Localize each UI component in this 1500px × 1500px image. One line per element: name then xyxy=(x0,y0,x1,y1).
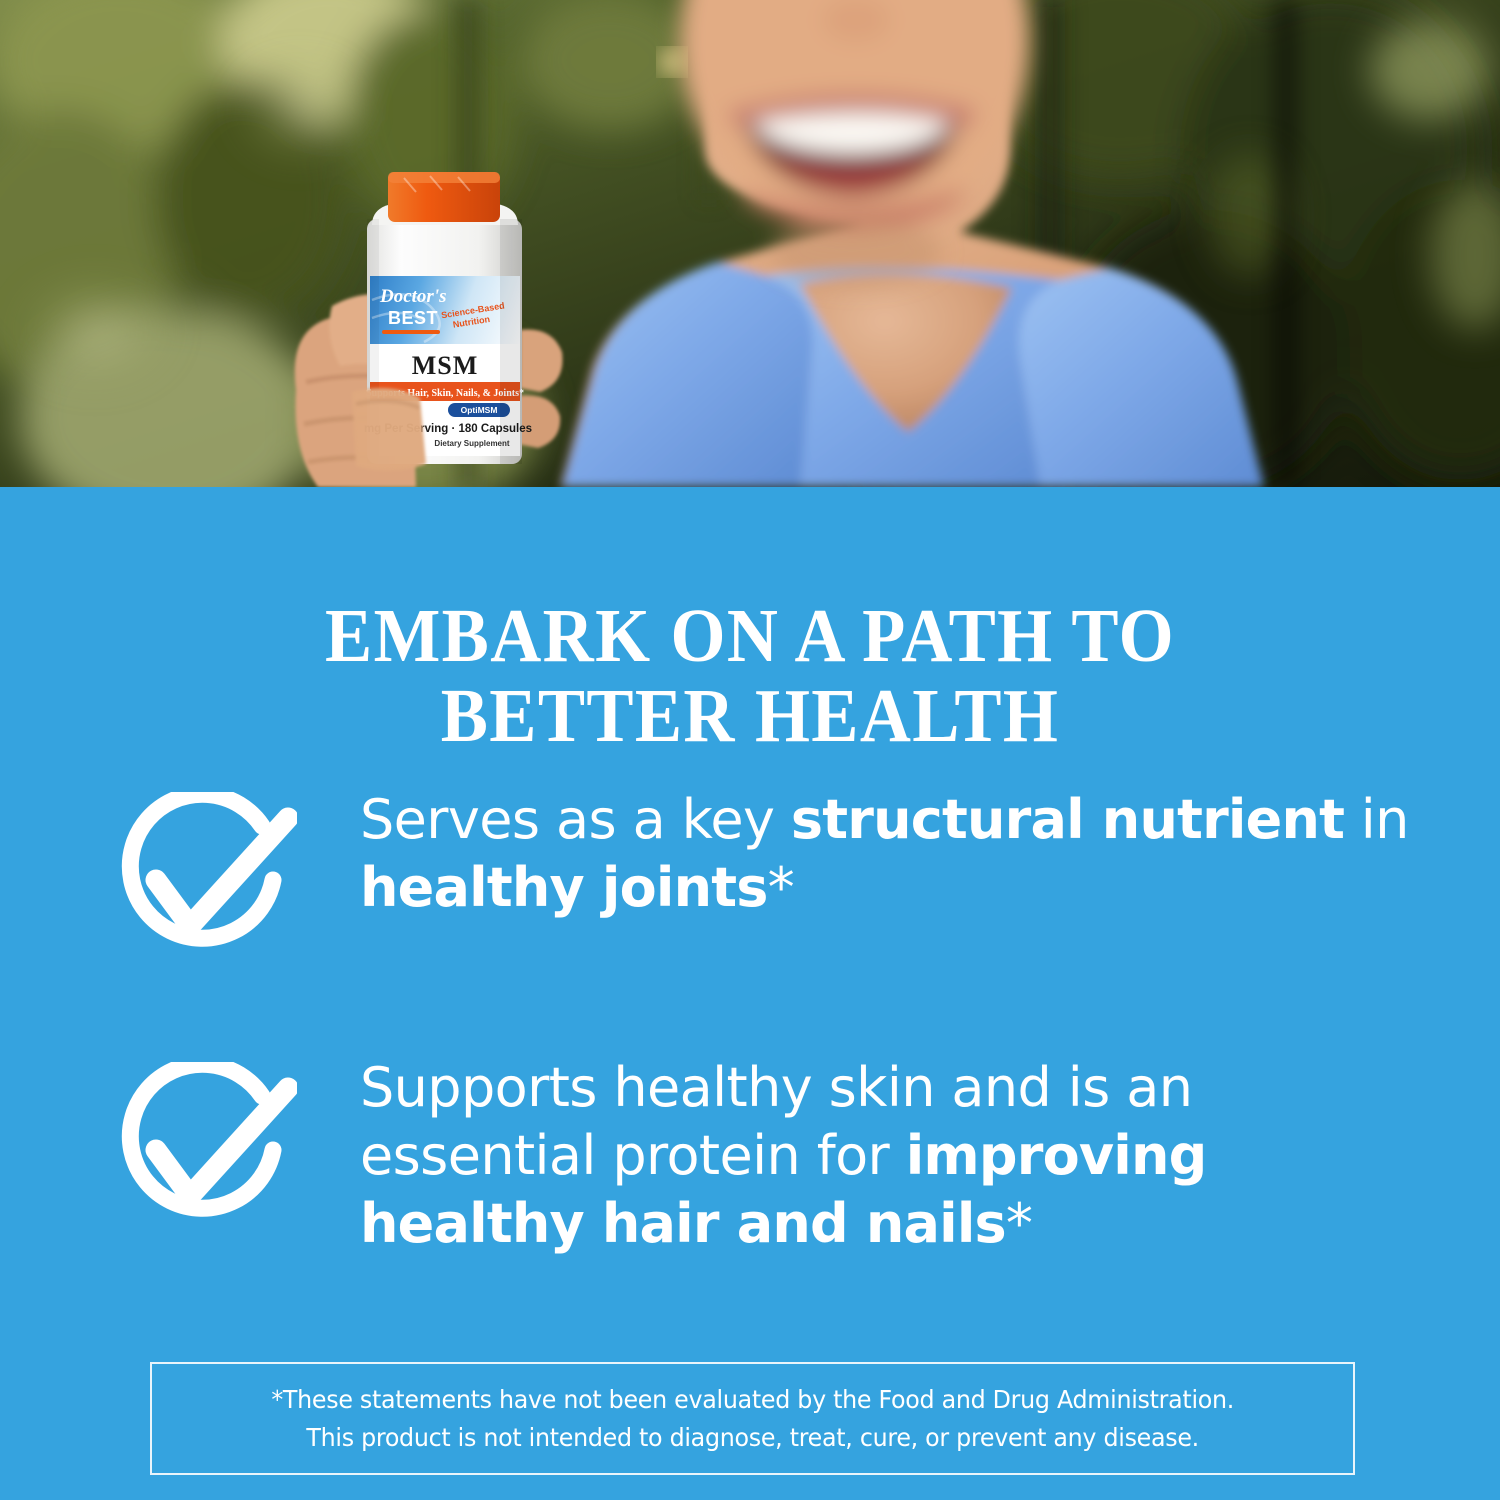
benefit-bullet-2-text: Supports healthy skin and is an essentia… xyxy=(297,1054,1442,1258)
svg-text:BEST: BEST xyxy=(388,308,438,328)
svg-text:Dietary Supplement: Dietary Supplement xyxy=(434,439,509,448)
check-circle-icon xyxy=(112,792,297,964)
headline-line-1: EMBARK ON A PATH TO xyxy=(53,596,1448,677)
product-infographic-page: Doctor's BEST Science-Based Nutrition MS… xyxy=(0,0,1500,1500)
bullet-2-asterisk: * xyxy=(1006,1192,1032,1255)
bullet-1-asterisk: * xyxy=(768,856,794,919)
benefit-bullet-1: Serves as a key structural nutrient in h… xyxy=(112,790,1442,964)
bullet-1-seg-1: structural nutrient xyxy=(791,788,1344,851)
svg-text:MSM: MSM xyxy=(412,351,479,380)
headline-line-2: BETTER HEALTH xyxy=(53,676,1448,757)
fda-disclaimer-text: *These statements have not been evaluate… xyxy=(271,1381,1234,1457)
disclaimer-line-2: This product is not intended to diagnose… xyxy=(271,1419,1234,1457)
hero-photo: Doctor's BEST Science-Based Nutrition MS… xyxy=(0,0,1500,487)
bullet-1-seg-2: in xyxy=(1344,788,1409,851)
bullet-1-seg-3: healthy joints xyxy=(360,856,768,919)
disclaimer-line-1: *These statements have not been evaluate… xyxy=(271,1381,1234,1419)
benefit-bullet-1-text: Serves as a key structural nutrient in h… xyxy=(297,786,1442,922)
page-headline: EMBARK ON A PATH TO BETTER HEALTH xyxy=(53,596,1448,757)
svg-text:Doctor's: Doctor's xyxy=(379,286,447,307)
svg-text:OptiMSM: OptiMSM xyxy=(461,405,498,415)
fda-disclaimer-box: *These statements have not been evaluate… xyxy=(150,1362,1355,1475)
bullet-1-seg-0: Serves as a key xyxy=(360,788,791,851)
check-circle-icon xyxy=(112,1062,297,1234)
benefit-bullet-2: Supports healthy skin and is an essentia… xyxy=(112,1060,1442,1258)
